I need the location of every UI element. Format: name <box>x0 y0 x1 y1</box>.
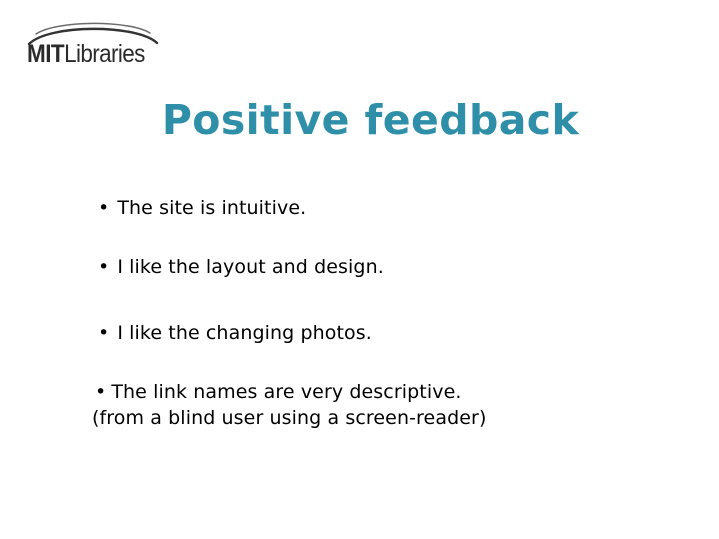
list-item: •The link names are very descriptive. <box>95 380 462 404</box>
list-item: •The site is intuitive. <box>98 196 306 220</box>
slide: MITLibraries Positive feedback •The site… <box>0 0 719 539</box>
list-item-label: I like the changing photos. <box>117 321 372 345</box>
slide-body: •The site is intuitive. •I like the layo… <box>0 0 719 539</box>
list-item: •I like the changing photos. <box>98 321 372 345</box>
bullet-marker: • <box>98 255 109 279</box>
list-item-label: I like the layout and design. <box>117 255 384 279</box>
bullet-marker: • <box>98 196 109 220</box>
list-item-label: The site is intuitive. <box>117 196 306 220</box>
list-item-continuation: (from a blind user using a screen-reader… <box>92 406 486 430</box>
list-item-label: The link names are very descriptive. <box>111 380 461 404</box>
bullet-marker: • <box>98 321 109 345</box>
bullet-marker: • <box>95 380 106 404</box>
list-item: •I like the layout and design. <box>98 255 384 279</box>
